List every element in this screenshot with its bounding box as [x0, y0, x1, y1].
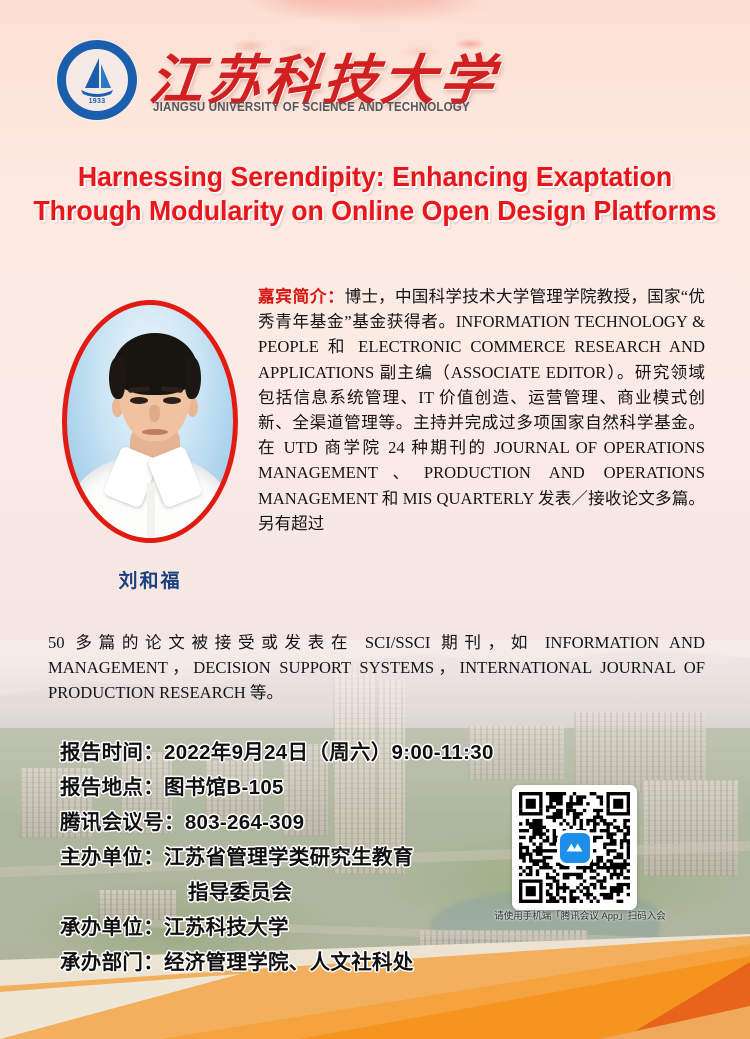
- detail-label-meeting-id: 腾讯会议号：: [60, 811, 185, 834]
- detail-value-organizer: 江苏省管理学类研究生教育: [164, 846, 414, 869]
- detail-value-host: 江苏科技大学: [164, 916, 289, 939]
- detail-value-time: 2022年9月24日（周六）9:00-11:30: [164, 741, 494, 764]
- university-seal-icon: 1933: [57, 40, 137, 120]
- bio-lead-label: 嘉宾简介：: [258, 287, 345, 306]
- detail-row-organizer-cont: 指导委员会: [60, 875, 530, 910]
- detail-label-location: 报告地点：: [60, 776, 164, 799]
- speaker-bio-continued: 50 多篇的论文被接受或发表在 SCI/SSCI 期刊，如 INFORMATIO…: [48, 630, 705, 706]
- detail-row-host: 承办单位：江苏科技大学: [60, 910, 530, 945]
- university-name-en: JIANGSU UNIVERSITY OF SCIENCE AND TECHNO…: [153, 100, 470, 114]
- poster-header: 1933 江苏科技大学 JIANGSU UNIVERSITY OF SCIENC…: [0, 34, 750, 134]
- speaker-portrait: [62, 300, 238, 543]
- poster-title: Harnessing Serendipity: Enhancing Exapta…: [11, 160, 739, 228]
- detail-label-department: 承办部门：: [60, 951, 164, 974]
- seal-year: 1933: [57, 98, 137, 105]
- detail-row-meeting-id: 腾讯会议号：803-264-309: [60, 805, 530, 840]
- title-line-2: Through Modularity on Online Open Design…: [11, 194, 739, 228]
- qr-code[interactable]: [512, 785, 637, 910]
- speaker-bio: 嘉宾简介：博士，中国科学技术大学管理学院教授，国家“优秀青年基金”基金获得者。I…: [258, 284, 705, 536]
- title-line-1: Harnessing Serendipity: Enhancing Exapta…: [11, 160, 739, 194]
- detail-value-department: 经济管理学院、人文社科处: [164, 951, 414, 974]
- detail-label-organizer: 主办单位：: [60, 846, 164, 869]
- detail-value-organizer-cont: 指导委员会: [188, 881, 292, 904]
- detail-row-department: 承办部门：经济管理学院、人文社科处: [60, 945, 530, 980]
- detail-row-location: 报告地点：图书馆B-105: [60, 770, 530, 805]
- speaker-name: 刘和福: [62, 566, 238, 593]
- event-details: 报告时间：2022年9月24日（周六）9:00-11:30 报告地点：图书馆B-…: [60, 735, 530, 980]
- detail-row-organizer: 主办单位：江苏省管理学类研究生教育: [60, 840, 530, 875]
- bio-body: 博士，中国科学技术大学管理学院教授，国家“优秀青年基金”基金获得者。INFORM…: [258, 287, 705, 533]
- seminar-poster: 1933 江苏科技大学 JIANGSU UNIVERSITY OF SCIENC…: [0, 0, 750, 1039]
- university-logo: 1933: [57, 40, 137, 120]
- detail-value-location: 图书馆B-105: [164, 776, 284, 799]
- detail-value-meeting-id: 803-264-309: [185, 811, 305, 834]
- sailboat-icon: [79, 56, 115, 100]
- qr-caption: 请使用手机端「腾讯会议 App」扫码入会: [470, 908, 690, 922]
- detail-label-time: 报告时间：: [60, 741, 164, 764]
- detail-label-host: 承办单位：: [60, 916, 164, 939]
- detail-row-time: 报告时间：2022年9月24日（周六）9:00-11:30: [60, 735, 530, 770]
- tencent-meeting-logo-icon: [560, 833, 590, 863]
